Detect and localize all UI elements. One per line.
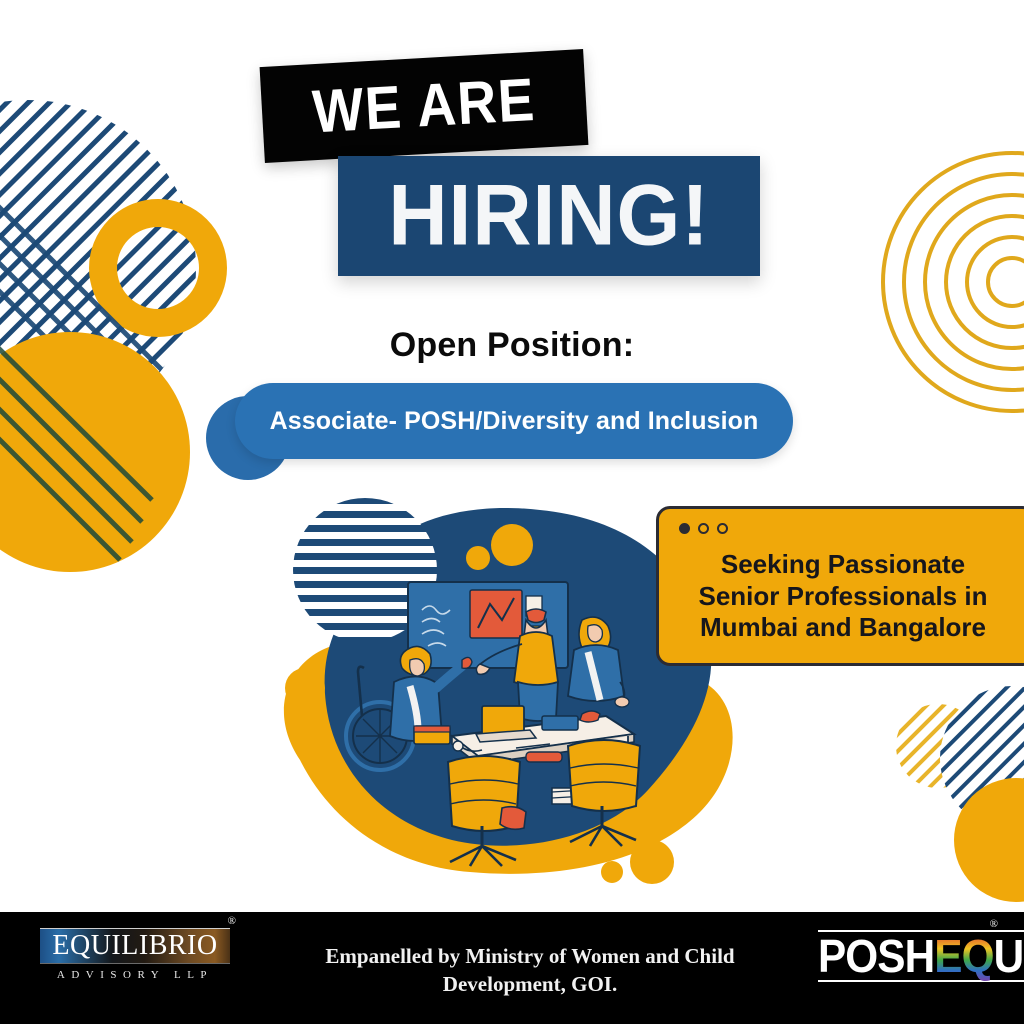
callout-line-2: Senior Professionals in	[675, 581, 1011, 613]
equilibrio-wordmark: EQUILIBRIO	[52, 932, 217, 960]
hiring-banner: HIRING!	[338, 156, 760, 276]
we-are-text: WE ARE	[311, 70, 537, 143]
poshequili-logo: ® POSHEQUILI	[818, 930, 998, 982]
registered-mark-icon: ®	[228, 915, 236, 927]
equilibrio-subtitle: ADVISORY LLP	[40, 969, 230, 981]
callout-line-3: Mumbai and Bangalore	[675, 612, 1011, 644]
hiring-text: HIRING!	[388, 173, 709, 259]
window-dots	[679, 523, 728, 534]
position-pill: Associate- POSH/Diversity and Inclusion	[235, 383, 793, 459]
empanelled-line-2: Development, GOI.	[280, 970, 780, 998]
seeking-callout-card: Seeking Passionate Senior Professionals …	[656, 506, 1024, 666]
equilibrio-logo: ® EQUILIBRIO ADVISORY LLP	[40, 928, 230, 981]
poshequili-part-e: E	[934, 930, 961, 982]
poshequili-part-q: Q	[962, 930, 994, 982]
window-dot-close-icon	[679, 523, 690, 534]
poster-content: WE ARE HIRING! Open Position: Associate-…	[0, 0, 1024, 1024]
callout-text: Seeking Passionate Senior Professionals …	[675, 549, 1011, 644]
empanelled-text: Empanelled by Ministry of Women and Chil…	[280, 942, 780, 999]
poshequili-wordmark: POSHEQUILI	[818, 930, 1024, 982]
open-position-label: Open Position:	[0, 326, 1024, 365]
empanelled-line-1: Empanelled by Ministry of Women and Chil…	[280, 942, 780, 970]
we-are-banner: WE ARE	[260, 49, 589, 163]
registered-mark-icon: ®	[990, 918, 998, 930]
position-title: Associate- POSH/Diversity and Inclusion	[270, 407, 759, 436]
window-dot-minimize-icon	[698, 523, 709, 534]
equilibrio-wordmark-band: EQUILIBRIO	[40, 928, 230, 964]
window-dot-maximize-icon	[717, 523, 728, 534]
poshequili-part-uili: UILI	[994, 930, 1024, 982]
callout-line-1: Seeking Passionate	[675, 549, 1011, 581]
hiring-poster: WE ARE HIRING! Open Position: Associate-…	[0, 0, 1024, 1024]
poshequili-part-posh: POSH	[818, 930, 934, 982]
